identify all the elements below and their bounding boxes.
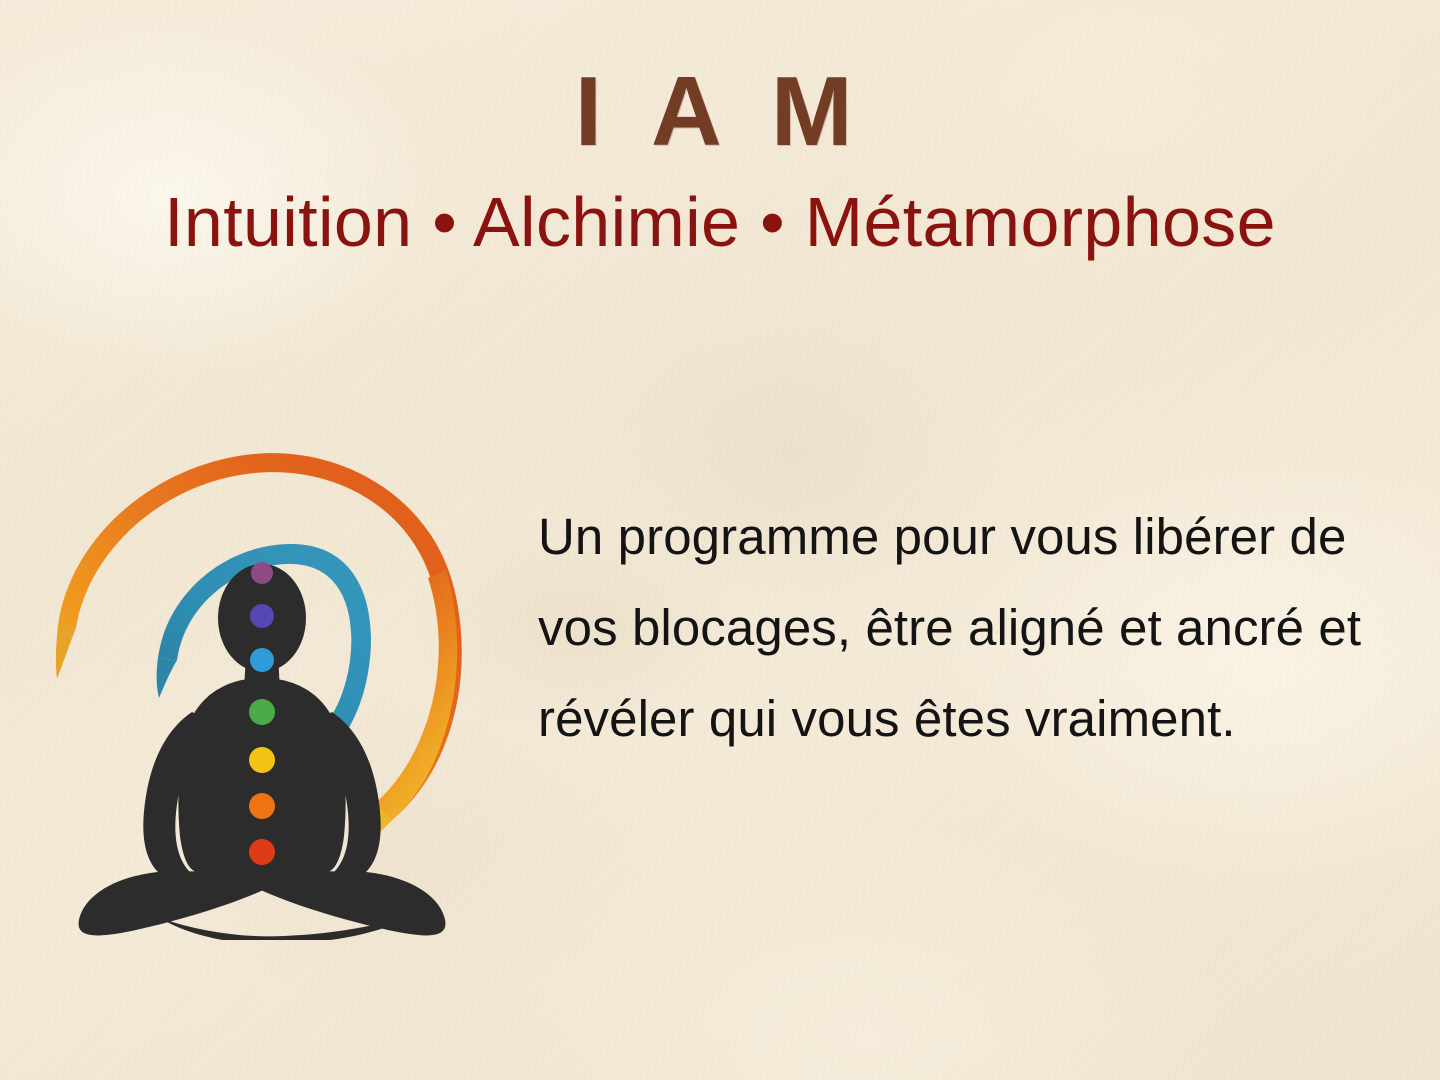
throat-chakra-dot [250, 648, 274, 672]
third-eye-chakra-dot [250, 604, 274, 628]
heading-block: I A M Intuition • Alchimie • Métamorphos… [0, 62, 1440, 260]
crown-chakra-dot [251, 562, 273, 584]
solar-plexus-chakra-dot [249, 747, 275, 773]
slide-canvas: I A M Intuition • Alchimie • Métamorphos… [0, 0, 1440, 1080]
heart-chakra-dot [249, 699, 275, 725]
body-paragraph: Un programme pour vous libérer de vos bl… [538, 492, 1368, 764]
page-subtitle: Intuition • Alchimie • Métamorphose [0, 186, 1440, 260]
root-chakra-dot [249, 839, 275, 865]
page-title: I A M [0, 62, 1440, 160]
meditating-figure-illustration [40, 420, 520, 940]
sacral-chakra-dot [249, 793, 275, 819]
